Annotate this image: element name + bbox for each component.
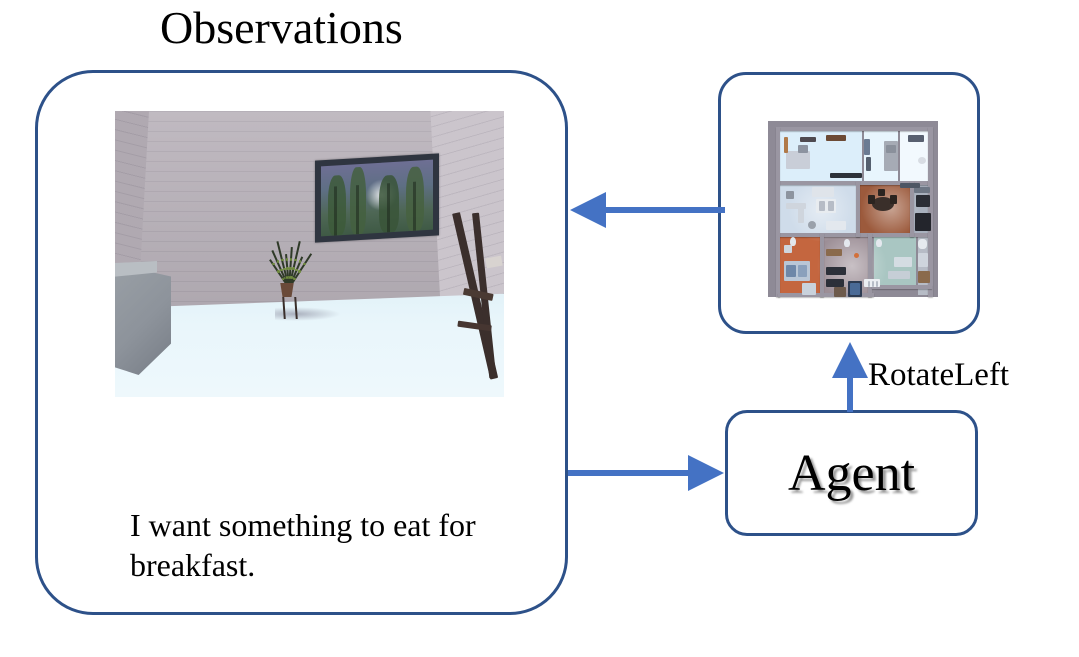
diagram-canvas: Observations — [0, 0, 1079, 657]
easel — [424, 195, 504, 395]
window-icon — [315, 153, 439, 242]
plant-stand — [282, 297, 298, 319]
egocentric-view-image — [115, 111, 504, 397]
page-title: Observations — [160, 2, 403, 54]
agent-label: Agent — [728, 443, 975, 505]
arrow-observations-to-agent — [560, 455, 730, 495]
observations-panel: I want something to eat for breakfast. — [35, 70, 568, 615]
arrow-agent-to-map — [832, 332, 872, 418]
action-label-rotateleft: RotateLeft — [868, 356, 1009, 394]
instruction-text: I want something to eat for breakfast. — [130, 505, 530, 585]
agent-panel: Agent — [725, 410, 978, 536]
map-panel — [718, 72, 980, 334]
window-glass — [321, 160, 433, 237]
arrow-map-to-observations — [560, 190, 730, 230]
plant — [273, 236, 303, 288]
floorplan — [768, 121, 938, 297]
topdown-map-image — [760, 115, 946, 301]
